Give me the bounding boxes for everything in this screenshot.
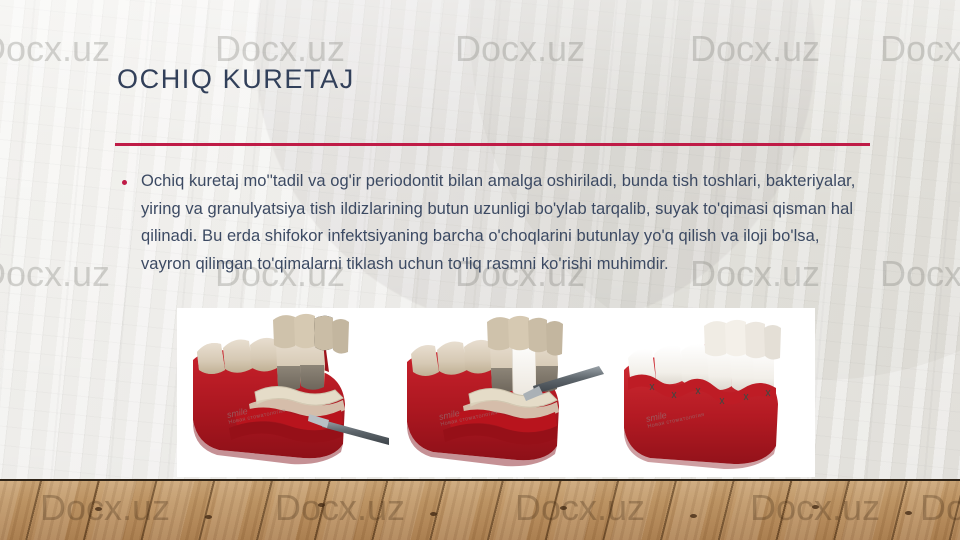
figure-image-box[interactable]: smileHoвaя cтoмaтoлoгия — [177, 308, 815, 477]
jaw-illustration-debridement — [399, 308, 614, 477]
jaw-illustration-flap-elevated — [183, 308, 405, 477]
watermark: Docx.uz — [455, 28, 585, 70]
wood-knot — [690, 514, 697, 518]
watermark: Docx.uz — [0, 253, 110, 295]
body-content: Ochiq kuretaj mo''tadil va og'ir periodo… — [122, 168, 872, 278]
bullet-text: Ochiq kuretaj mo''tadil va og'ir periodo… — [141, 168, 872, 278]
figure-panel-1: smileHoвaя cтoмaтoлoгия — [183, 308, 405, 477]
figure-panel-3: smileHoвaя cтoмaтoлoгия — [614, 308, 814, 477]
watermark: Docx.uz — [40, 487, 170, 529]
watermark: Docx.uz — [880, 28, 960, 70]
watermark: Docx.uz — [275, 487, 405, 529]
page-title: OCHIQ KURETAJ — [117, 64, 355, 95]
title-underline-rule — [115, 143, 870, 146]
watermark: Docx.uz — [515, 487, 645, 529]
slide-canvas: Docx.uz Docx.uz Docx.uz Docx.uz Docx.uz … — [0, 0, 960, 540]
wood-knot — [430, 512, 437, 516]
bullet-item: Ochiq kuretaj mo''tadil va og'ir periodo… — [122, 168, 872, 278]
wood-knot — [905, 511, 912, 515]
jaw-illustration-sutured — [614, 308, 814, 477]
watermark: Docx.uz — [750, 487, 880, 529]
wood-knot — [205, 515, 212, 519]
watermark: Docx.uz — [690, 28, 820, 70]
figure-panel-2: smileHoвaя cтoмaтoлoгия — [399, 308, 614, 477]
watermark: Docx.uz — [920, 487, 960, 529]
watermark: Docx.uz — [0, 28, 110, 70]
watermark: Docx.uz — [880, 253, 960, 295]
bullet-dot-icon — [122, 180, 127, 185]
